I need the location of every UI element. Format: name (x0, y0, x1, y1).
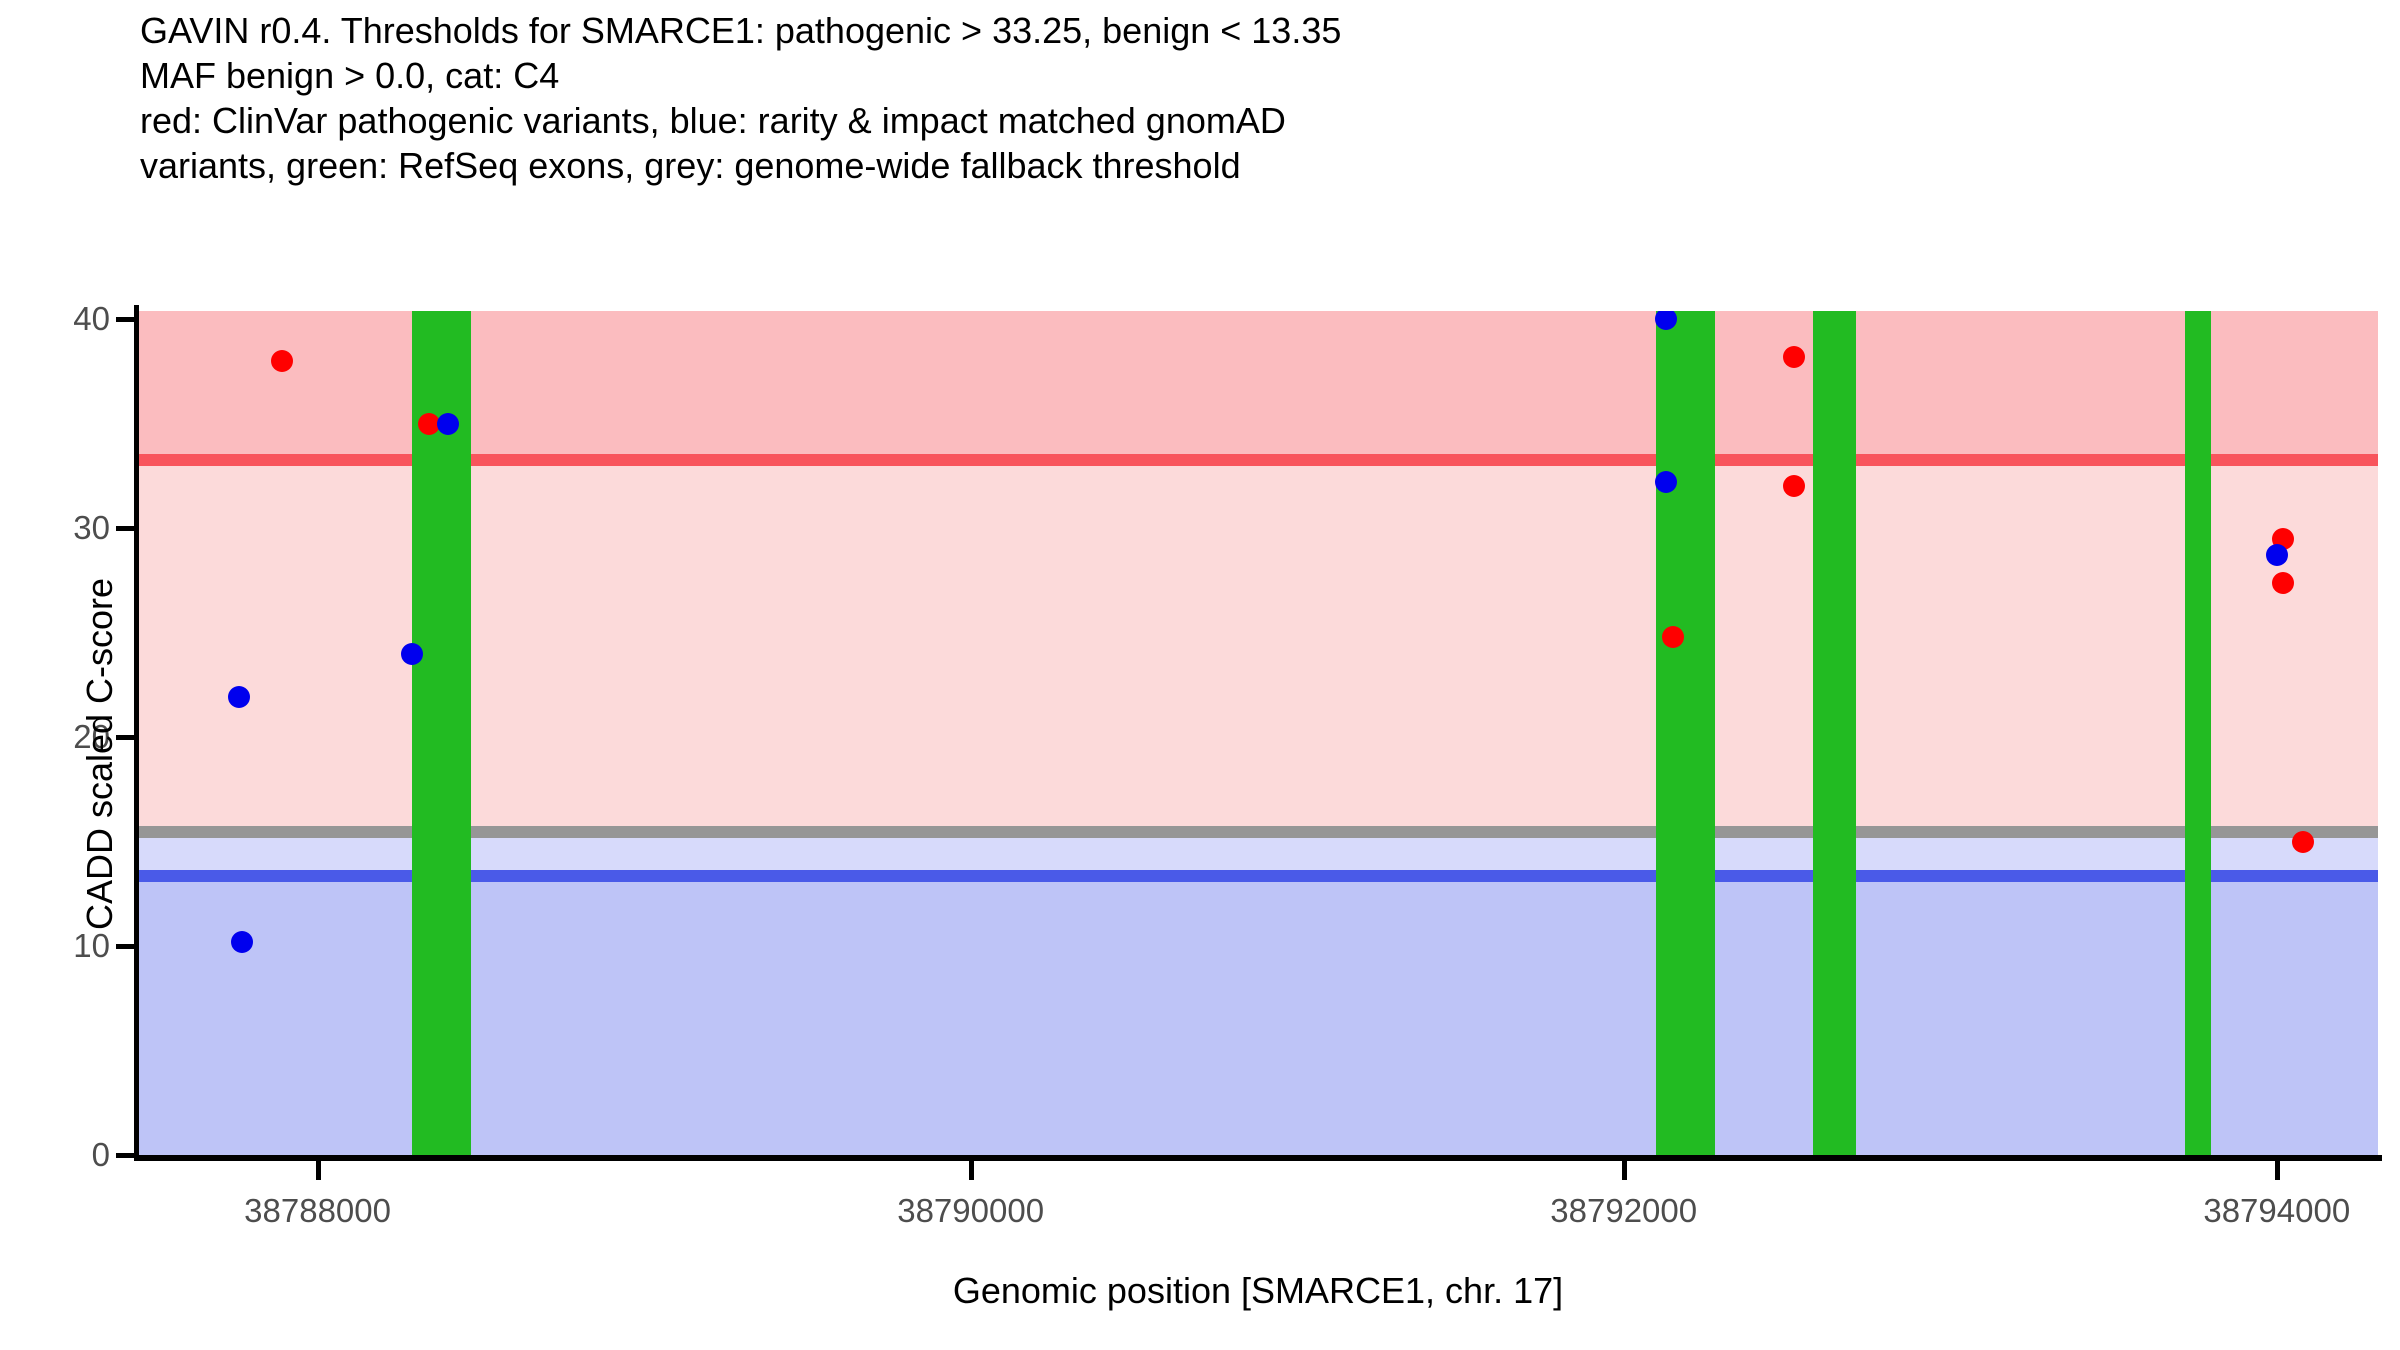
y-axis-title: CADD scaled C-score (79, 304, 121, 1204)
plot-panel (138, 311, 2378, 1155)
scatter-plot: 010203040 387880003879000038792000387940… (0, 0, 2400, 1350)
exon-bar (1813, 311, 1855, 1155)
band-benign-upper (138, 838, 2378, 870)
benign-threshold-line (138, 870, 2378, 882)
x-tick-mark (1622, 1161, 1627, 1180)
pathogenic-threshold-line (138, 454, 2378, 466)
band-pathogenic-upper (138, 311, 2378, 454)
exon-bar (1656, 311, 1715, 1155)
clinvar-variant-point (1783, 346, 1805, 368)
x-tick-label: 38792000 (1550, 1192, 1697, 1230)
clinvar-variant-point (271, 350, 293, 372)
band-benign-lower (138, 882, 2378, 1155)
gnomad-variant-point (437, 413, 459, 435)
x-tick-mark (316, 1161, 321, 1180)
x-tick-mark (2275, 1161, 2280, 1180)
x-tick-label: 38790000 (897, 1192, 1044, 1230)
x-tick-mark (969, 1161, 974, 1180)
clinvar-variant-point (2272, 572, 2294, 594)
band-pathogenic-lower (138, 466, 2378, 826)
exon-bar (412, 311, 471, 1155)
exon-bar (2185, 311, 2211, 1155)
x-tick-label: 38788000 (244, 1192, 391, 1230)
clinvar-variant-point (1783, 475, 1805, 497)
fallback-threshold-line (138, 826, 2378, 838)
gnomad-variant-point (401, 643, 423, 665)
x-tick-label: 38794000 (2203, 1192, 2350, 1230)
y-axis-line (134, 305, 139, 1161)
clinvar-variant-point (2292, 831, 2314, 853)
clinvar-variant-point (1662, 626, 1684, 648)
x-axis-line (134, 1155, 2382, 1161)
x-axis-title: Genomic position [SMARCE1, chr. 17] (138, 1270, 2378, 1312)
